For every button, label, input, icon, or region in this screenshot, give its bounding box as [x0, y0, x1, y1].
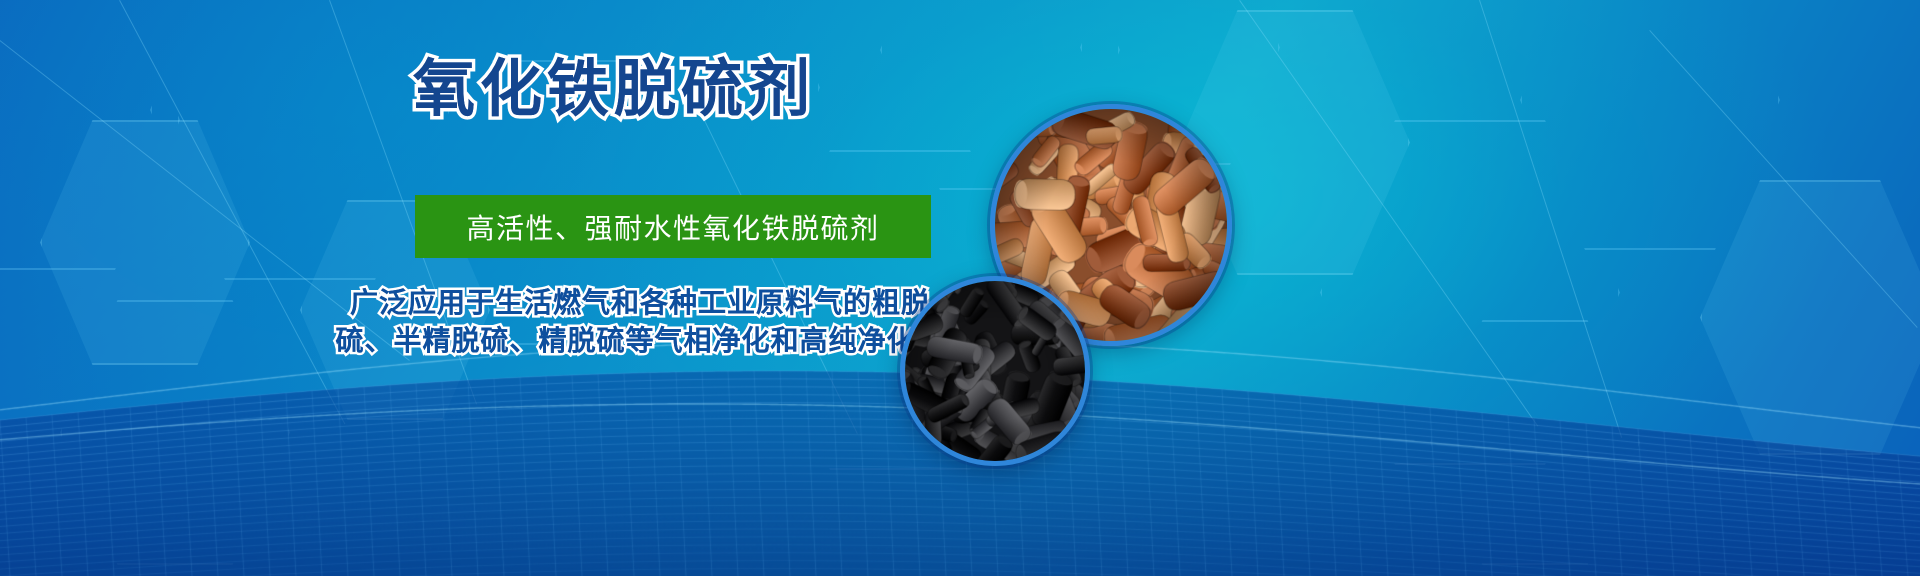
- subtitle-banner: 高活性、强耐水性氧化铁脱硫剂: [415, 195, 931, 258]
- page-title: 氧化铁脱硫剂: [413, 54, 933, 125]
- description-line-2: 硫、半精脱硫、精脱硫等气相净化和高纯净化。: [330, 322, 950, 360]
- product-image-activated-carbon-pellets: [900, 276, 1090, 466]
- banner-text-block: 氧化铁脱硫剂 氧化铁脱硫剂 高活性、强耐水性氧化铁脱硫剂 广泛应用于生活燃气和各…: [0, 0, 980, 576]
- description-block: 广泛应用于生活燃气和各种工业原料气的粗脱 广泛应用于生活燃气和各种工业原料气的粗…: [330, 284, 950, 360]
- description-line-1: 广泛应用于生活燃气和各种工业原料气的粗脱: [330, 284, 950, 322]
- product-banner: 氧化铁脱硫剂 氧化铁脱硫剂 高活性、强耐水性氧化铁脱硫剂 广泛应用于生活燃气和各…: [0, 0, 1920, 576]
- description-row: 硫、半精脱硫、精脱硫等气相净化和高纯净化。 硫、半精脱硫、精脱硫等气相净化和高纯…: [330, 322, 950, 360]
- activated-carbon-pellets-image: [905, 281, 1085, 461]
- subtitle-text: 高活性、强耐水性氧化铁脱硫剂: [466, 207, 879, 247]
- description-row: 广泛应用于生活燃气和各种工业原料气的粗脱 广泛应用于生活燃气和各种工业原料气的粗…: [330, 284, 950, 322]
